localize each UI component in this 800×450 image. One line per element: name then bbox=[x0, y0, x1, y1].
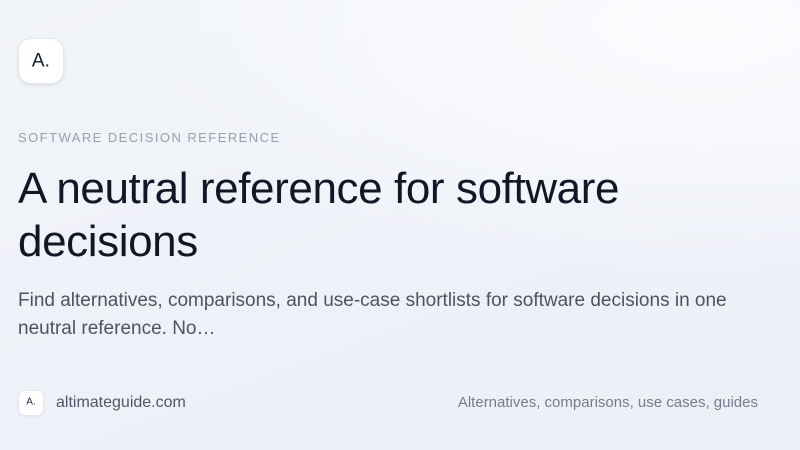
brand-logo-badge: A. bbox=[18, 38, 64, 84]
footer-brand-monogram: A. bbox=[26, 398, 35, 408]
hero-content: SOFTWARE DECISION REFERENCE A neutral re… bbox=[18, 130, 760, 390]
footer-brand: A. altimateguide.com bbox=[18, 390, 186, 416]
eyebrow-label: SOFTWARE DECISION REFERENCE bbox=[18, 130, 760, 146]
page-title: A neutral reference for software decisio… bbox=[18, 162, 738, 268]
card-footer: A. altimateguide.com Alternatives, compa… bbox=[18, 390, 760, 416]
footer-tags: Alternatives, comparisons, use cases, gu… bbox=[458, 393, 758, 413]
site-domain: altimateguide.com bbox=[56, 393, 186, 413]
page-description: Find alternatives, comparisons, and use-… bbox=[18, 287, 758, 343]
footer-logo-badge: A. bbox=[18, 390, 44, 416]
share-card: A. SOFTWARE DECISION REFERENCE A neutral… bbox=[0, 0, 800, 450]
brand-monogram: A. bbox=[32, 51, 50, 70]
